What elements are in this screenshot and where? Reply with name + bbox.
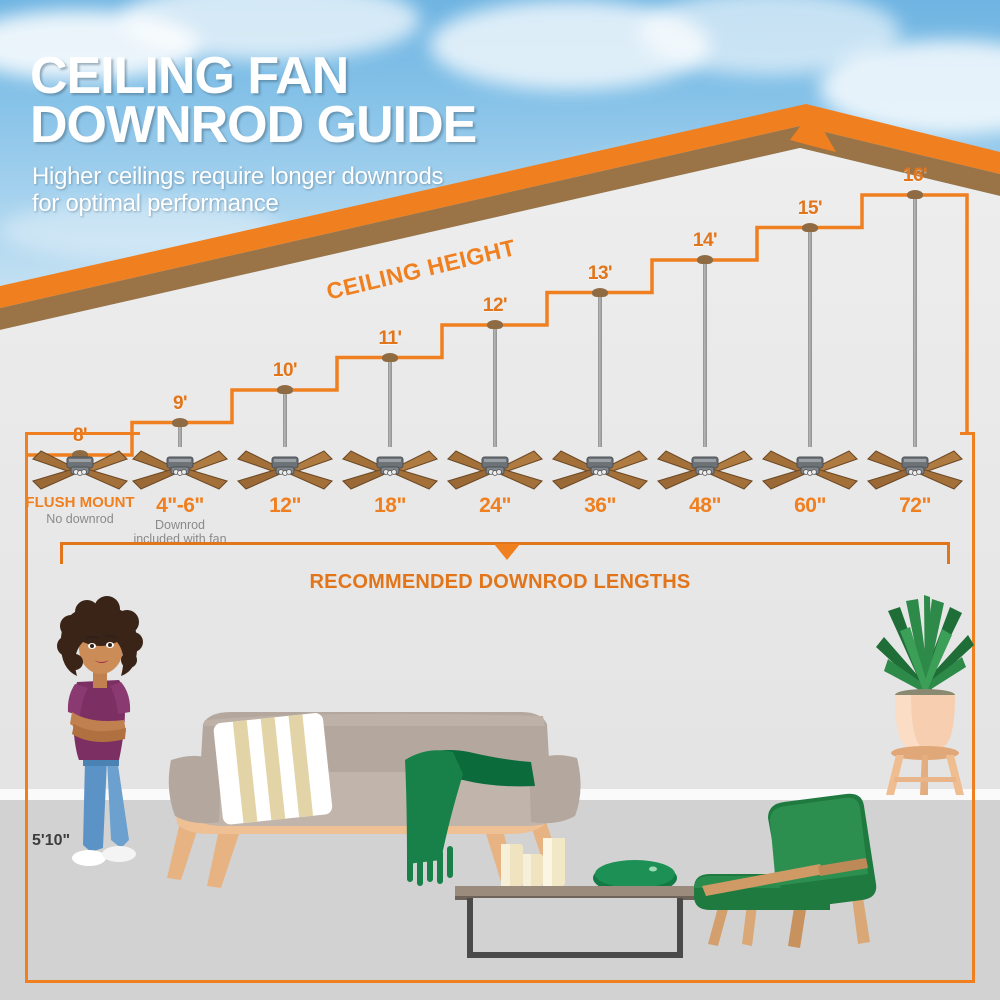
down-arrow-icon [494, 544, 520, 560]
ceiling-mount-icon [382, 353, 398, 362]
person-illustration [45, 590, 155, 890]
ceiling-height-12ft: 12' [483, 295, 507, 317]
ceiling-mount-icon [277, 385, 293, 394]
ceiling-mount-icon [487, 320, 503, 329]
downrod-6 [703, 260, 707, 447]
plant-illustration [870, 595, 980, 795]
ceiling-height-16ft: 16' [903, 165, 927, 187]
ceiling-mount-icon [172, 418, 188, 427]
downrod-5 [598, 293, 602, 448]
ceiling-height-15ft: 15' [798, 198, 822, 220]
armchair-illustration [690, 790, 900, 950]
downrod-7 [808, 228, 812, 448]
recommended-caption: RECOMMENDED DOWNROD LENGTHS [310, 571, 691, 594]
ceiling-height-14ft: 14' [693, 230, 717, 252]
ceiling-height-10ft: 10' [273, 360, 297, 382]
ceiling-mount-icon [592, 288, 608, 297]
ceiling-height-13ft: 13' [588, 263, 612, 285]
infographic-canvas: CEILING FAN DOWNROD GUIDE Higher ceiling… [0, 0, 1000, 1000]
downrod-8 [913, 195, 917, 447]
ceiling-height-11ft: 11' [378, 328, 401, 350]
downrod-4 [493, 325, 497, 447]
coffee-table-illustration [455, 838, 695, 958]
ceiling-mount-icon [697, 255, 713, 264]
ceiling-height-9ft: 9' [173, 393, 187, 415]
diagram-frame-top-left [25, 432, 140, 435]
ceiling-mount-icon [802, 223, 818, 232]
ceiling-mount-icon [907, 190, 923, 199]
diagram-frame-top-right [960, 432, 975, 435]
